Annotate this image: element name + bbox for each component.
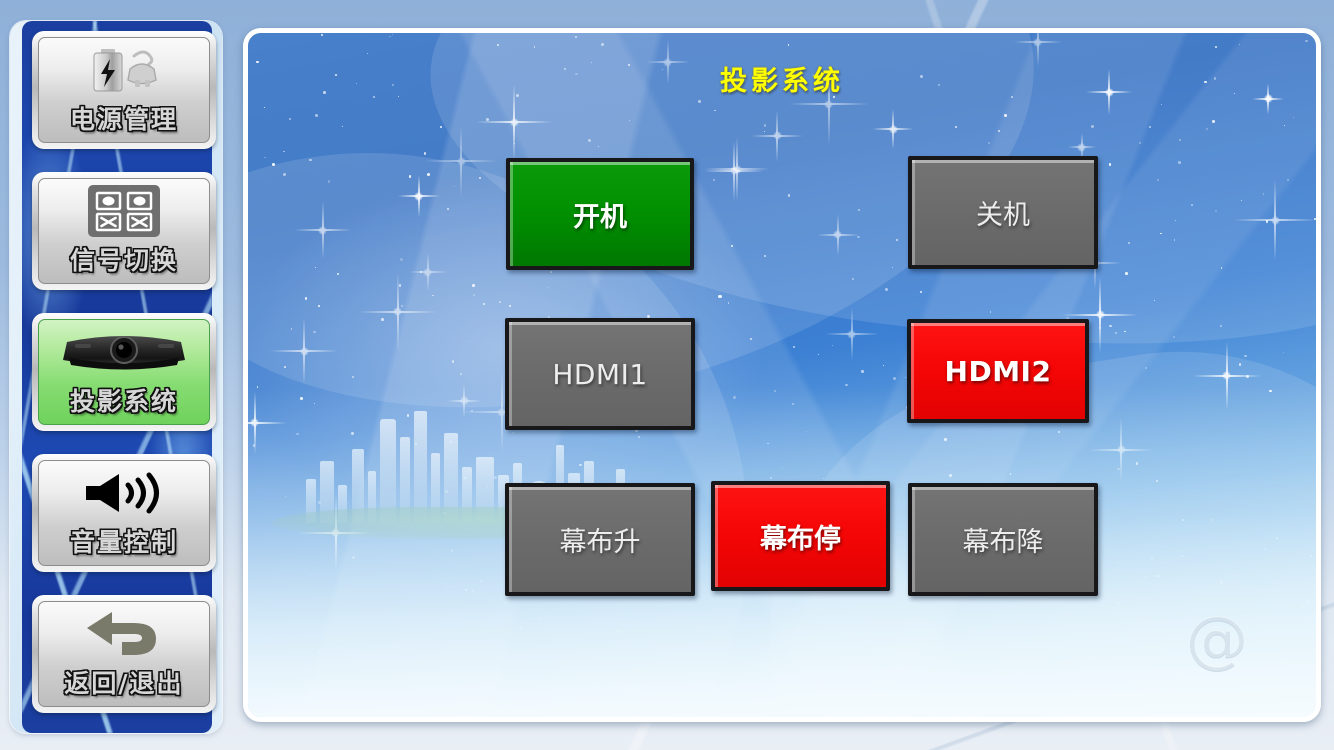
control-button-power-on[interactable]: 开机 <box>506 158 694 270</box>
watermark-at-icon: @ <box>1186 602 1248 675</box>
sidebar-item-label: 返回/退出 <box>39 664 209 700</box>
control-button-label: 幕布停 <box>760 517 841 556</box>
speaker-icon <box>39 467 209 519</box>
control-button-label: 开机 <box>573 195 627 234</box>
sidebar-item-label: 音量控制 <box>39 523 209 559</box>
sidebar-item-projection-system[interactable]: 投影系统 <box>32 313 216 431</box>
battery-plug-icon <box>39 44 209 96</box>
background-bands <box>248 33 1316 717</box>
control-button-label: 幕布降 <box>963 520 1044 559</box>
control-button-screen-down[interactable]: 幕布降 <box>908 483 1098 596</box>
page-title: 投影系统 <box>248 59 1316 98</box>
back-arrow-icon <box>39 608 209 660</box>
control-button-label: HDMI2 <box>945 355 1052 388</box>
control-button-label: 关机 <box>976 193 1030 232</box>
starfield <box>248 33 1316 717</box>
control-button-label: 幕布升 <box>560 520 641 559</box>
sidebar-item-signal-switch[interactable]: 信号切换 <box>32 172 216 290</box>
sidebar-item-power-management[interactable]: 电源管理 <box>32 31 216 149</box>
sidebar-item-label: 信号切换 <box>39 241 209 277</box>
sidebar-item-volume-control[interactable]: 音量控制 <box>32 454 216 572</box>
control-button-label: HDMI1 <box>552 358 647 391</box>
background-rays <box>248 33 1316 717</box>
sidebar-item-back-exit[interactable]: 返回/退出 <box>32 595 216 713</box>
app-root: 电源管理 <box>0 0 1334 750</box>
signal-grid-icon <box>39 185 209 237</box>
sidebar-item-label: 电源管理 <box>39 100 209 136</box>
sidebar: 电源管理 <box>10 21 222 733</box>
sidebar-item-label: 投影系统 <box>39 382 209 418</box>
main-panel: @ 投影系统 开机 关机 HDMI1 HDMI2 幕布升 幕布停 幕布降 <box>243 28 1321 722</box>
control-button-power-off[interactable]: 关机 <box>908 156 1098 269</box>
control-button-screen-up[interactable]: 幕布升 <box>505 483 695 596</box>
control-button-hdmi2[interactable]: HDMI2 <box>907 319 1089 423</box>
control-button-screen-stop[interactable]: 幕布停 <box>711 481 890 591</box>
control-button-hdmi1[interactable]: HDMI1 <box>505 318 695 430</box>
projector-icon <box>39 326 209 378</box>
